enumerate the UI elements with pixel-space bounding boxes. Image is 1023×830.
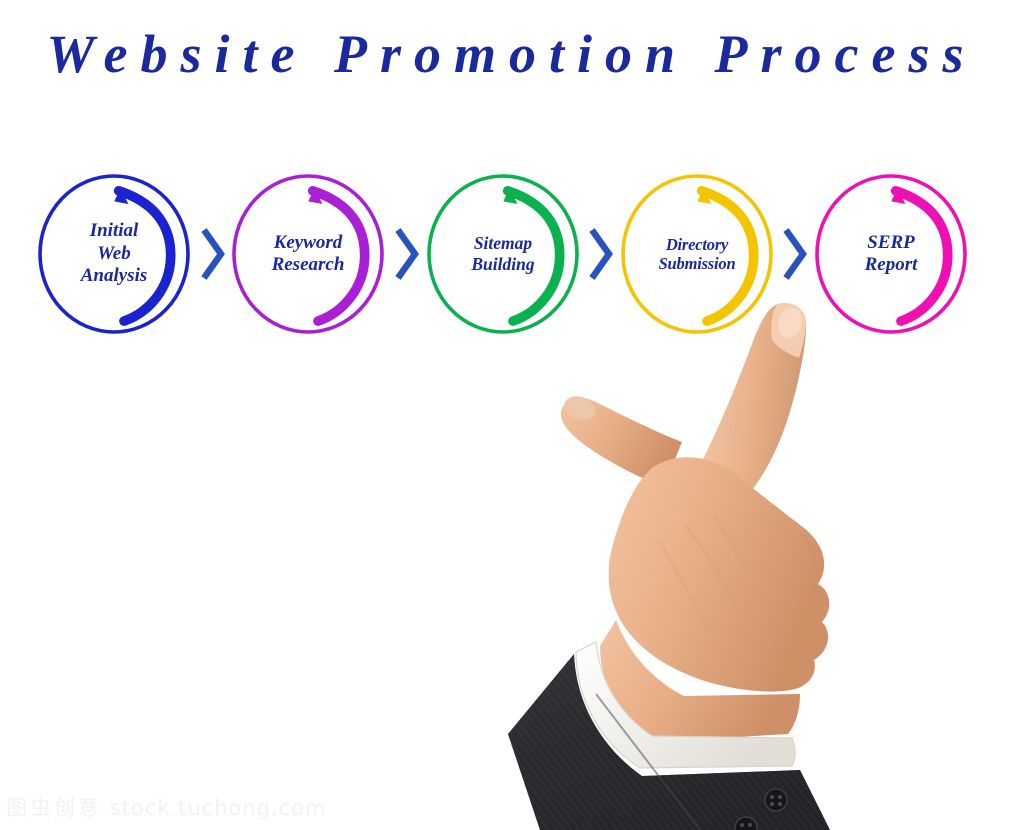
watermark-latin: stock.tuchong.com	[110, 796, 327, 820]
watermark-chinese: 图虫创意	[6, 796, 102, 820]
process-step-2[interactable]: Keyword Research	[228, 170, 388, 338]
step-2-line-2: Research	[272, 254, 345, 276]
pointing-hand-photo	[500, 290, 900, 830]
step-4-line-2: Submission	[659, 254, 736, 273]
chevron-right-icon-1	[200, 225, 226, 283]
step-5-line-1: SERP	[867, 232, 915, 254]
step-2-line-1: Keyword	[274, 232, 343, 254]
step-4-line-1: Directory	[666, 235, 728, 254]
watermark: 图虫创意 stock.tuchong.com	[6, 792, 327, 822]
process-step-1[interactable]: Initial Web Analysis	[34, 170, 194, 338]
diagram-canvas: Website Promotion Process Initial Web An…	[0, 0, 1023, 830]
page-title: Website Promotion Process	[0, 26, 1023, 83]
chevron-right-icon-2	[394, 225, 420, 283]
chevron-right-icon-4	[782, 225, 808, 283]
step-1-line-1: Initial	[90, 220, 139, 242]
step-3-line-2: Building	[471, 254, 534, 275]
step-5-line-2: Report	[865, 254, 918, 276]
chevron-right-icon-3	[588, 225, 614, 283]
step-3-line-1: Sitemap	[474, 233, 532, 254]
step-2-label: Keyword Research	[228, 170, 388, 338]
step-1-line-3: Analysis	[81, 265, 148, 287]
step-1-line-2: Web	[97, 243, 130, 265]
step-1-label: Initial Web Analysis	[34, 170, 194, 338]
